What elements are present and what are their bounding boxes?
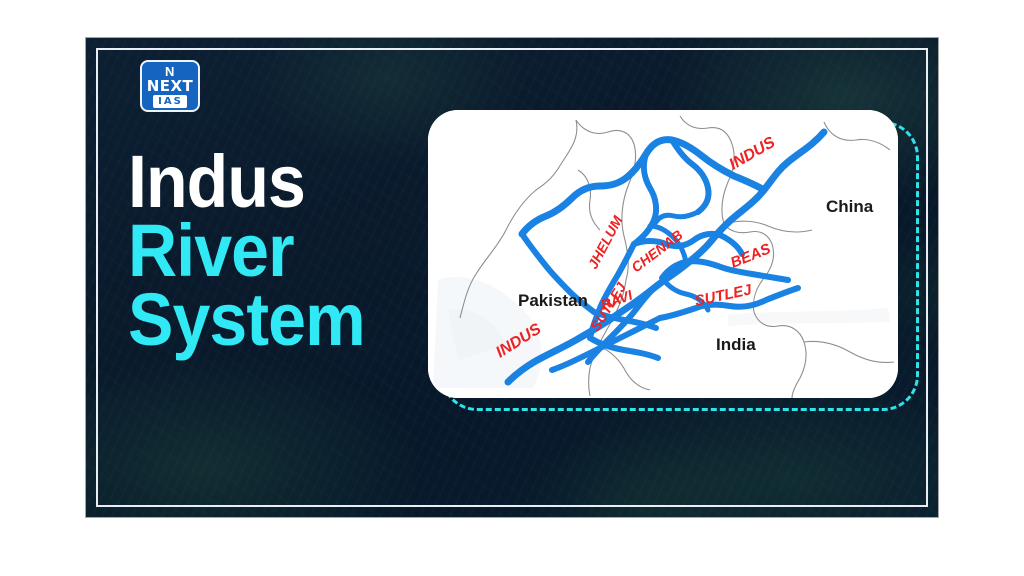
title-line-system: System: [128, 286, 404, 355]
title-line-indus: Indus: [128, 148, 404, 217]
logo-ias-text: IAS: [153, 95, 187, 108]
label-china: China: [826, 197, 874, 216]
next-ias-logo[interactable]: N NEXT IAS: [140, 60, 200, 112]
label-pakistan: Pakistan: [518, 291, 588, 310]
indus-river-system-map[interactable]: INDUS JHELUM CHENAB RAVI SUTLEJ BEAS SUT…: [428, 110, 898, 398]
logo-next-text: NEXT: [147, 79, 194, 94]
title-line-river: River: [128, 217, 404, 286]
slide-root: N NEXT IAS Indus River System: [0, 0, 1024, 576]
page-title: Indus River System: [128, 148, 428, 354]
label-india: India: [716, 335, 756, 354]
